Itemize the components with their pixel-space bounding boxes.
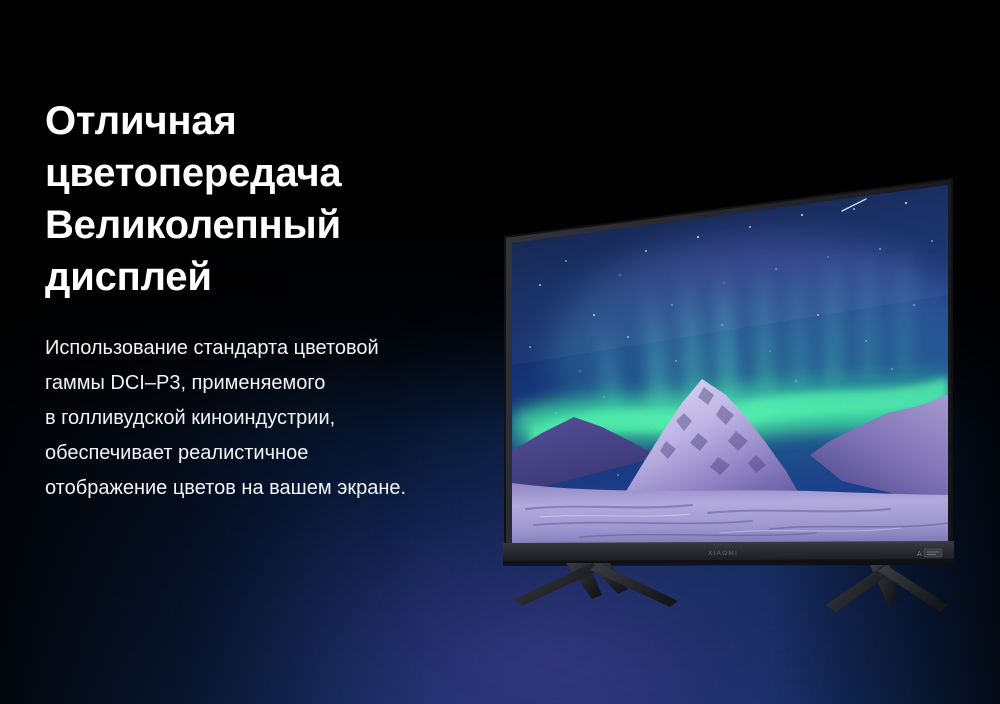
body-paragraph: Использование стандарта цветовой гаммы D… — [45, 303, 515, 506]
corner-badge: A — [917, 549, 942, 558]
headline: Отличная цветопередача Великолепный дисп… — [45, 95, 515, 303]
copy-block: Отличная цветопередача Великолепный дисп… — [45, 95, 515, 506]
tv-stand-left — [514, 563, 678, 607]
svg-text:A: A — [917, 551, 922, 558]
bezel-brand-logo: XIAOMI — [708, 550, 738, 557]
promo-banner: Отличная цветопередача Великолепный дисп… — [0, 0, 1000, 704]
tv-stand-right — [826, 565, 948, 612]
tv-product-image: XIAOMI A — [470, 165, 990, 615]
tv-screen — [512, 179, 990, 549]
